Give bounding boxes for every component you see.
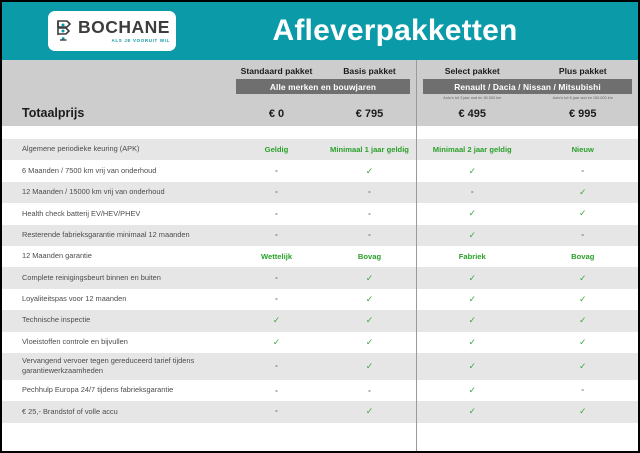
feature-value: Minimaal 1 jaar geldig bbox=[323, 146, 416, 154]
group-b-column-names: Select pakket Plus pakket bbox=[417, 60, 638, 76]
group-b-prices: € 495 € 995 bbox=[417, 108, 638, 120]
row-group-all-brands: ✓✓ bbox=[230, 316, 416, 325]
price-select: € 495 bbox=[417, 108, 528, 120]
group-a-prices: € 0 € 795 bbox=[230, 108, 416, 120]
table-top-spacer bbox=[2, 126, 638, 139]
not-included-dash: - bbox=[230, 167, 323, 176]
not-included-dash: - bbox=[230, 387, 323, 395]
not-included-dash: - bbox=[230, 188, 323, 196]
feature-label: Health check batterij EV/HEV/PHEV bbox=[2, 209, 230, 220]
table-row: Vloeistoffen controle en bijvullen✓✓✓✓ bbox=[2, 332, 638, 353]
check-icon: ✓ bbox=[417, 407, 528, 416]
not-included-dash: - bbox=[528, 386, 639, 395]
check-icon: ✓ bbox=[323, 338, 416, 347]
not-included-dash: - bbox=[528, 231, 639, 240]
not-included-dash: - bbox=[230, 295, 323, 304]
group-a-column-names: Standaard pakket Basis pakket bbox=[230, 60, 416, 76]
group-a-brand-bar: Alle merken en bouwjaren bbox=[236, 79, 410, 94]
row-group-renault: FabriekBovag bbox=[416, 253, 638, 261]
price-standaard: € 0 bbox=[230, 108, 323, 120]
check-icon: ✓ bbox=[230, 338, 323, 347]
check-icon: ✓ bbox=[323, 295, 416, 304]
row-group-renault: ✓- bbox=[416, 167, 638, 176]
row-group-renault: ✓✓ bbox=[416, 407, 638, 416]
check-icon: ✓ bbox=[417, 295, 528, 304]
row-group-renault: ✓- bbox=[416, 231, 638, 240]
row-group-renault: -✓ bbox=[416, 188, 638, 197]
not-included-dash: - bbox=[230, 231, 323, 239]
subnote-select: Auto's tot 3 jaar oud en 30.000 km bbox=[417, 96, 528, 100]
table-row: 12 Maanden garantieWettelijkBovagFabriek… bbox=[2, 246, 638, 267]
table-row: Vervangend vervoer tegen gereduceerd tar… bbox=[2, 353, 638, 380]
check-icon: ✓ bbox=[417, 167, 528, 176]
table-row: Health check batterij EV/HEV/PHEV--✓✓ bbox=[2, 203, 638, 224]
price-plus: € 995 bbox=[528, 108, 639, 120]
row-group-all-brands: -- bbox=[230, 231, 416, 239]
row-group-renault: ✓✓ bbox=[416, 338, 638, 347]
check-icon: ✓ bbox=[528, 188, 639, 197]
check-icon: ✓ bbox=[528, 362, 639, 371]
table-row: Pechhulp Europa 24/7 tijdens fabrieksgar… bbox=[2, 380, 638, 401]
row-group-renault: ✓✓ bbox=[416, 209, 638, 218]
not-included-dash: - bbox=[230, 274, 323, 283]
check-icon: ✓ bbox=[417, 338, 528, 347]
feature-label: Loyaliteitspas voor 12 maanden bbox=[2, 294, 230, 305]
row-group-all-brands: WettelijkBovag bbox=[230, 253, 416, 261]
row-group-all-brands: -✓ bbox=[230, 295, 416, 304]
price-header: Totaalprijs Standaard pakket Basis pakke… bbox=[2, 60, 638, 126]
feature-value: Geldig bbox=[230, 146, 323, 154]
check-icon: ✓ bbox=[417, 231, 528, 240]
table-row: 12 Maanden / 15000 km vrij van onderhoud… bbox=[2, 182, 638, 203]
check-icon: ✓ bbox=[528, 407, 639, 416]
feature-label: 12 Maanden garantie bbox=[2, 251, 230, 262]
feature-label: Vervangend vervoer tegen gereduceerd tar… bbox=[2, 356, 230, 377]
check-icon: ✓ bbox=[323, 167, 416, 176]
row-group-renault: Minimaal 2 jaar geldigNieuw bbox=[416, 146, 638, 154]
feature-label: Pechhulp Europa 24/7 tijdens fabrieksgar… bbox=[2, 385, 230, 396]
check-icon: ✓ bbox=[528, 209, 639, 218]
total-price-label: Totaalprijs bbox=[22, 106, 84, 120]
row-group-renault: ✓- bbox=[416, 386, 638, 395]
not-included-dash: - bbox=[230, 407, 323, 416]
row-group-all-brands: -- bbox=[230, 387, 416, 395]
feature-value: Bovag bbox=[323, 253, 416, 261]
table-row: Technische inspectie✓✓✓✓ bbox=[2, 310, 638, 331]
table-row: Resterende fabrieksgarantie minimaal 12 … bbox=[2, 225, 638, 246]
row-group-all-brands: ✓✓ bbox=[230, 338, 416, 347]
check-icon: ✓ bbox=[528, 316, 639, 325]
check-icon: ✓ bbox=[417, 316, 528, 325]
feature-value: Wettelijk bbox=[230, 253, 323, 261]
package-group-renault-dacia-nissan-mitsubishi: Select pakket Plus pakket Renault / Daci… bbox=[416, 60, 638, 126]
feature-value: Fabriek bbox=[417, 253, 528, 261]
check-icon: ✓ bbox=[528, 295, 639, 304]
row-group-renault: ✓✓ bbox=[416, 274, 638, 283]
check-icon: ✓ bbox=[528, 274, 639, 283]
check-icon: ✓ bbox=[323, 407, 416, 416]
price-basis: € 795 bbox=[323, 108, 416, 120]
row-group-renault: ✓✓ bbox=[416, 362, 638, 371]
not-included-dash: - bbox=[417, 188, 528, 197]
feature-label: Resterende fabrieksgarantie minimaal 12 … bbox=[2, 230, 230, 241]
table-row: € 25,- Brandstof of volle accu-✓✓✓ bbox=[2, 401, 638, 422]
feature-label: Complete reinigingsbeurt binnen en buite… bbox=[2, 273, 230, 284]
check-icon: ✓ bbox=[230, 316, 323, 325]
price-header-left: Totaalprijs bbox=[2, 60, 230, 126]
check-icon: ✓ bbox=[323, 362, 416, 371]
not-included-dash: - bbox=[528, 167, 639, 176]
feature-value: Bovag bbox=[528, 253, 639, 261]
check-icon: ✓ bbox=[417, 274, 528, 283]
check-icon: ✓ bbox=[417, 386, 528, 395]
not-included-dash: - bbox=[323, 387, 416, 395]
feature-value: Minimaal 2 jaar geldig bbox=[417, 146, 528, 154]
table-row: Loyaliteitspas voor 12 maanden-✓✓✓ bbox=[2, 289, 638, 310]
feature-label: Technische inspectie bbox=[2, 315, 230, 326]
feature-label: Algemene periodieke keuring (APK) bbox=[2, 144, 230, 155]
page-header: BOCHANE ALS JE VOORUIT WIL Afleverpakket… bbox=[2, 2, 638, 60]
table-row: 6 Maanden / 7500 km vrij van onderhoud-✓… bbox=[2, 160, 638, 181]
row-group-all-brands: GeldigMinimaal 1 jaar geldig bbox=[230, 146, 416, 154]
check-icon: ✓ bbox=[528, 338, 639, 347]
row-group-all-brands: -- bbox=[230, 210, 416, 218]
check-icon: ✓ bbox=[323, 274, 416, 283]
row-group-all-brands: -✓ bbox=[230, 274, 416, 283]
row-group-all-brands: -✓ bbox=[230, 407, 416, 416]
not-included-dash: - bbox=[230, 210, 323, 218]
column-name-standaard: Standaard pakket bbox=[230, 66, 323, 76]
row-group-all-brands: -- bbox=[230, 188, 416, 196]
not-included-dash: - bbox=[230, 362, 323, 371]
feature-label: 6 Maanden / 7500 km vrij van onderhoud bbox=[2, 166, 230, 177]
column-name-select: Select pakket bbox=[417, 66, 528, 76]
check-icon: ✓ bbox=[417, 362, 528, 371]
row-group-renault: ✓✓ bbox=[416, 316, 638, 325]
check-icon: ✓ bbox=[323, 316, 416, 325]
column-name-basis: Basis pakket bbox=[323, 66, 416, 76]
not-included-dash: - bbox=[323, 210, 416, 218]
column-group-divider bbox=[416, 60, 417, 451]
column-name-plus: Plus pakket bbox=[528, 66, 639, 76]
row-group-all-brands: -✓ bbox=[230, 167, 416, 176]
group-b-brand-bar: Renault / Dacia / Nissan / Mitsubishi bbox=[423, 79, 632, 94]
table-rows: Algemene periodieke keuring (APK)GeldigM… bbox=[2, 139, 638, 423]
package-group-all-brands: Standaard pakket Basis pakket Alle merke… bbox=[230, 60, 416, 126]
group-b-subnotes: Auto's tot 3 jaar oud en 30.000 km Auto'… bbox=[417, 96, 638, 100]
feature-label: Vloeistoffen controle en bijvullen bbox=[2, 337, 230, 348]
table-row: Complete reinigingsbeurt binnen en buite… bbox=[2, 267, 638, 288]
feature-comparison-table: Algemene periodieke keuring (APK)GeldigM… bbox=[2, 126, 638, 423]
feature-value: Nieuw bbox=[528, 146, 639, 154]
row-group-renault: ✓✓ bbox=[416, 295, 638, 304]
not-included-dash: - bbox=[323, 231, 416, 239]
check-icon: ✓ bbox=[417, 209, 528, 218]
subnote-plus: Auto's tot 6 jaar oud en 100.000 km bbox=[528, 96, 639, 100]
table-row: Algemene periodieke keuring (APK)GeldigM… bbox=[2, 139, 638, 160]
feature-label: 12 Maanden / 15000 km vrij van onderhoud bbox=[2, 187, 230, 198]
not-included-dash: - bbox=[323, 188, 416, 196]
page-title: Afleverpakketten bbox=[2, 2, 638, 60]
afleverpakketten-page: BOCHANE ALS JE VOORUIT WIL Afleverpakket… bbox=[0, 0, 640, 453]
row-group-all-brands: -✓ bbox=[230, 362, 416, 371]
feature-label: € 25,- Brandstof of volle accu bbox=[2, 407, 230, 418]
